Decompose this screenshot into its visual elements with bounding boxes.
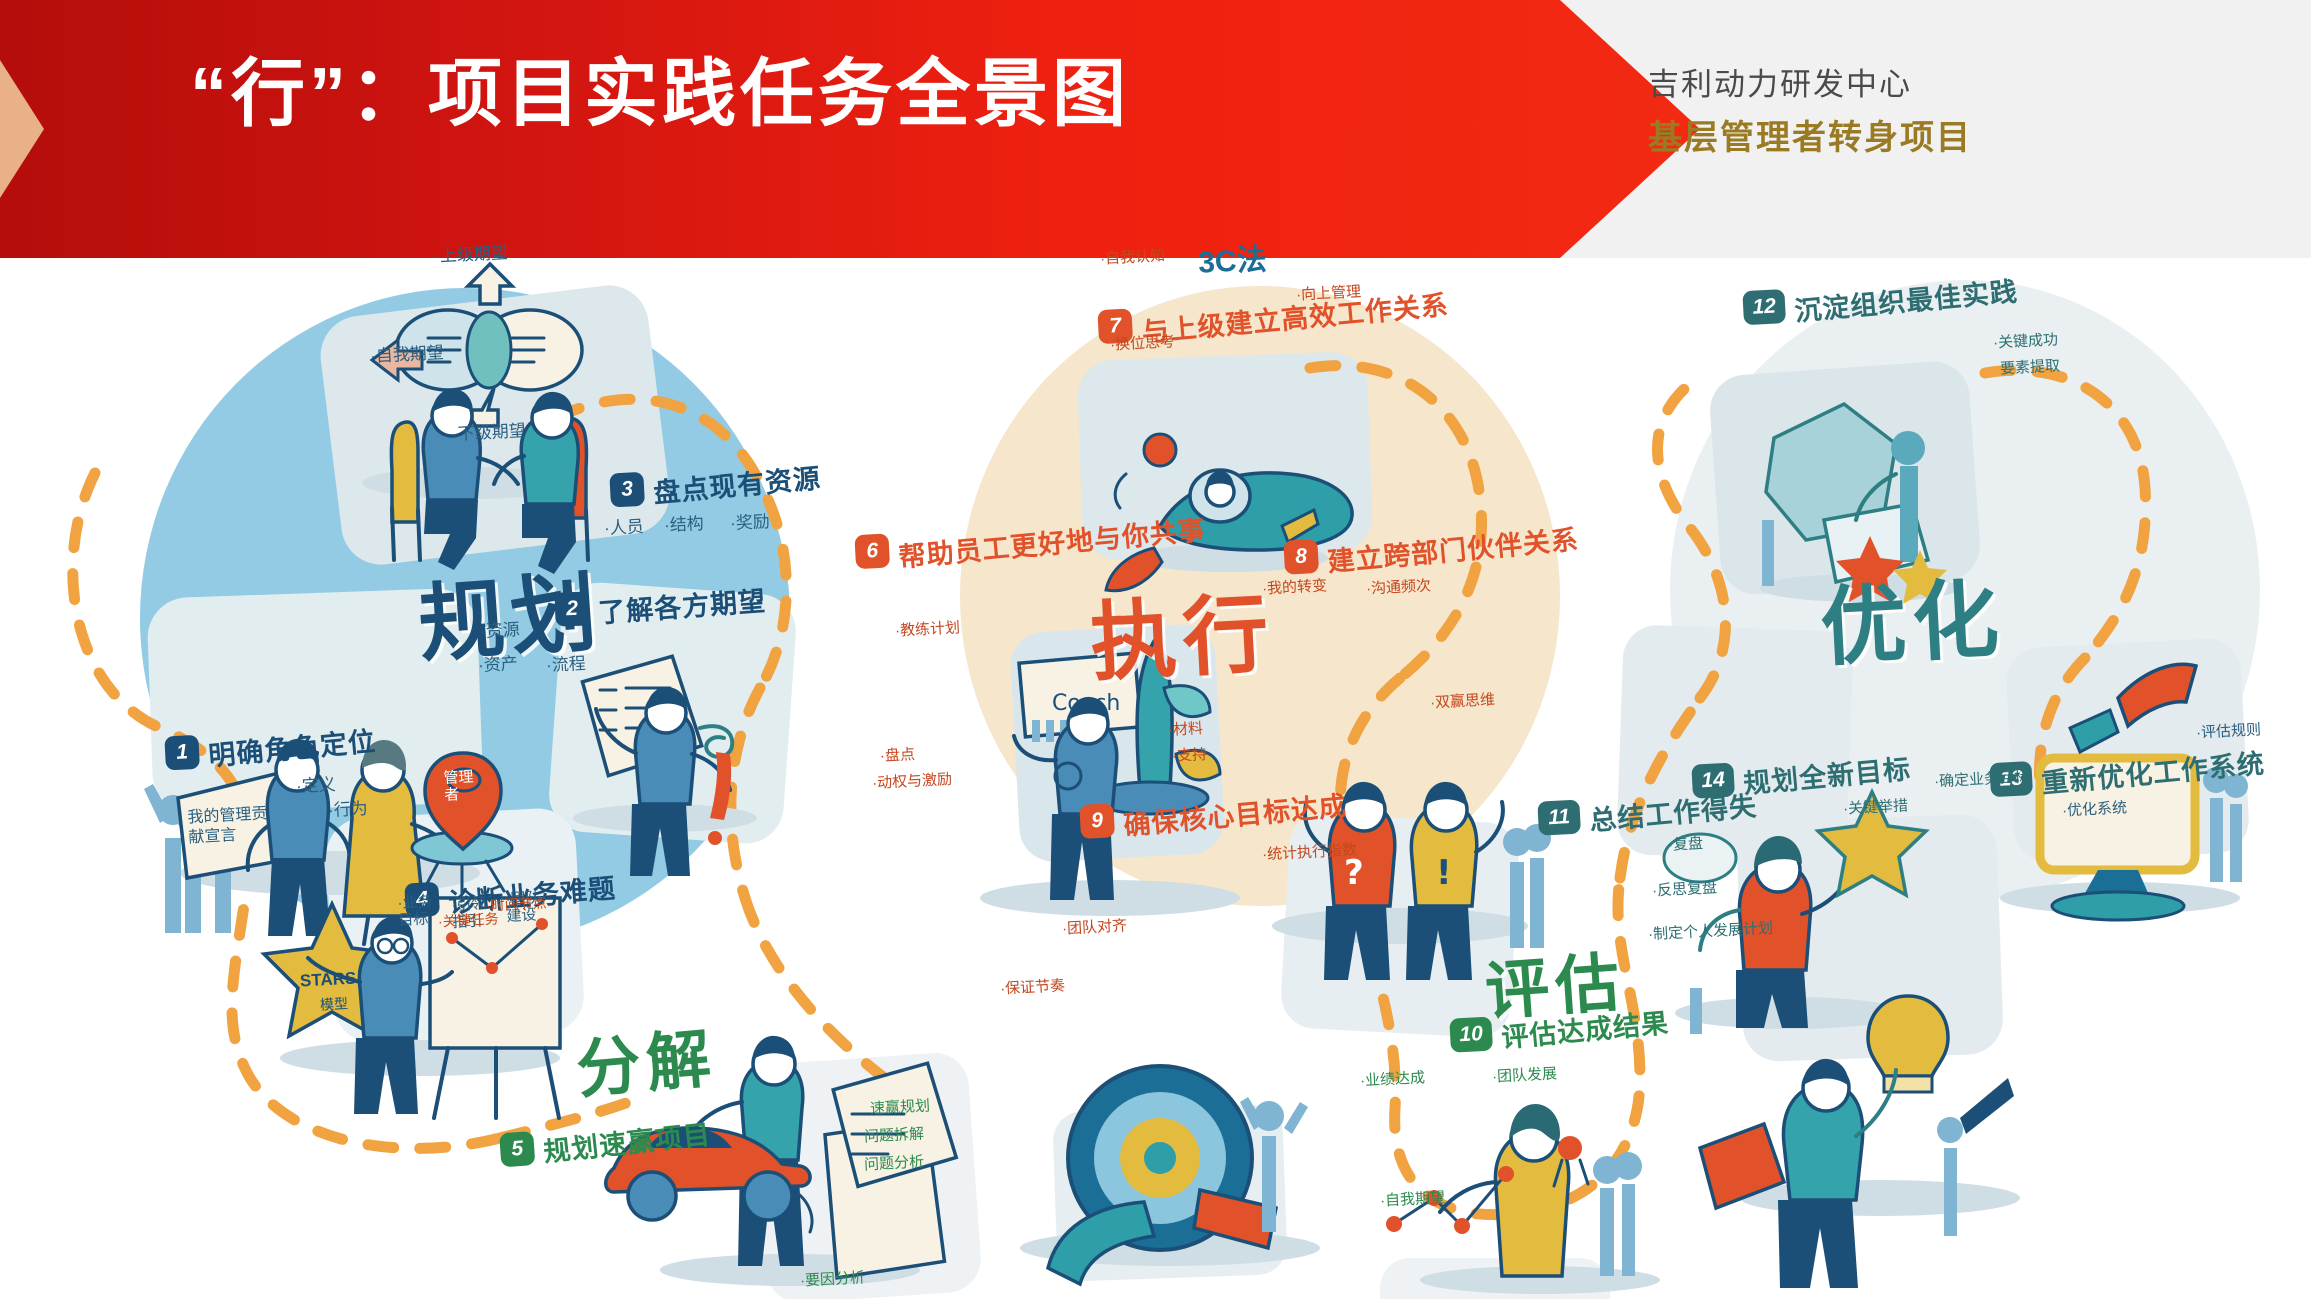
note-key-action: 关键举措 <box>1842 794 1908 818</box>
note-motivation: 动权与激励 <box>872 768 953 793</box>
note-reflection: 反思复盘 <box>1651 876 1717 900</box>
step-number-2: 2 <box>554 591 589 626</box>
note-root-cause: 问题分析 <box>863 1150 924 1174</box>
note-role-sign: 我的管理贡献宣言 <box>187 804 284 849</box>
note-work-system: 优化系统 <box>2061 796 2127 820</box>
note-material: 材料 <box>1167 717 1203 740</box>
note-win-win: 双赢思维 <box>1429 688 1495 712</box>
step-label-2[interactable]: 2 了解各方期望 <box>554 582 766 628</box>
note-resource: 资源 <box>479 615 520 642</box>
note-eval-rules: 评估规则 <box>2195 718 2261 742</box>
svg-text:!: ! <box>1436 853 1452 893</box>
note-bp-factor: 要素提取 <box>1999 354 2060 378</box>
note-biz-goal: 业务目标 <box>397 893 441 930</box>
step-number-1: 1 <box>164 734 200 770</box>
note-performance: 业绩达成 <box>1359 1066 1425 1090</box>
note-inventory: 盘点 <box>879 743 915 766</box>
note-problem-tree: 问题拆解 <box>863 1122 924 1146</box>
step-number-14: 14 <box>1691 762 1735 798</box>
step-number-8: 8 <box>1283 538 1319 574</box>
note-cause-analysis: 要因分析 <box>799 1266 865 1290</box>
organization-name: 吉利动力研发中心 <box>1648 62 1972 109</box>
step-number-5: 5 <box>499 1131 535 1167</box>
phase-word-optimize: 优化 <box>1817 548 2007 682</box>
note-perspective: 换位思考 <box>1109 330 1175 354</box>
note-assets: 资产 <box>477 649 518 676</box>
note-bp-key: 关键成功 <box>1992 328 2058 352</box>
note-stars-label: STARS <box>300 969 357 992</box>
step-number-6: 6 <box>854 533 890 569</box>
note-manage-up: 向上管理 <box>1295 280 1361 304</box>
note-structure: 结构 <box>663 509 704 536</box>
note-timeline: 时间节点 <box>486 892 548 915</box>
step-number-12: 12 <box>1742 289 1786 325</box>
step-number-9: 9 <box>1079 803 1115 839</box>
note-badge-manager: 管理者 <box>443 769 485 804</box>
note-self-awareness: 自我认知 <box>1099 244 1165 268</box>
note-team-dev: 团队发展 <box>1491 1062 1557 1086</box>
note-quick-win: 速赢规划 <box>869 1094 930 1118</box>
note-stars-model: 模型 <box>319 993 348 1014</box>
step-number-10: 10 <box>1449 1016 1493 1052</box>
note-team-align: 团队对齐 <box>1061 914 1127 938</box>
header-banner: “行”：项目实践任务全景图 吉利动力研发中心 基层管理者转身项目 <box>0 0 2311 258</box>
phase-word-split: 分解 <box>572 1007 719 1111</box>
note-self-expect: 自我期望 <box>369 338 444 367</box>
note-upper-expect: 上级期望 <box>433 238 508 267</box>
header-right-text: 吉利动力研发中心 基层管理者转身项目 <box>1648 62 1972 162</box>
note-assess-self-expect: 自我期望 <box>1379 1186 1445 1210</box>
project-name: 基层管理者转身项目 <box>1648 115 1972 163</box>
note-milestone: 保证节奏 <box>999 974 1065 998</box>
note-process: 流程 <box>545 649 586 676</box>
note-lower-expect: 下级期望 <box>451 416 526 445</box>
note-behavior: 行为 <box>327 794 368 821</box>
note-reward: 奖励 <box>729 507 770 534</box>
page-title: “行”：项目实践任务全景图 <box>190 48 1130 141</box>
poster-root: “行”：项目实践任务全景图 吉利动力研发中心 基层管理者转身项目 .ln { f… <box>0 0 2311 1299</box>
note-definition: 定义 <box>295 770 336 797</box>
step-number-3: 3 <box>609 471 645 507</box>
note-support: 支持 <box>1171 743 1207 766</box>
phase-word-execute: 执行 <box>1087 563 1277 697</box>
note-three-c: 3C法 <box>1197 234 1268 282</box>
note-my-turn: 我的转变 <box>1261 574 1327 598</box>
note-coach-plan: 教练计划 <box>894 616 960 640</box>
note-comm-freq: 沟通频次 <box>1365 574 1431 598</box>
note-people: 人员 <box>603 512 644 539</box>
infographic-canvas: .ln { fill:none; stroke:#1b4f77; stroke-… <box>0 258 2311 1299</box>
step-number-11: 11 <box>1537 799 1581 835</box>
